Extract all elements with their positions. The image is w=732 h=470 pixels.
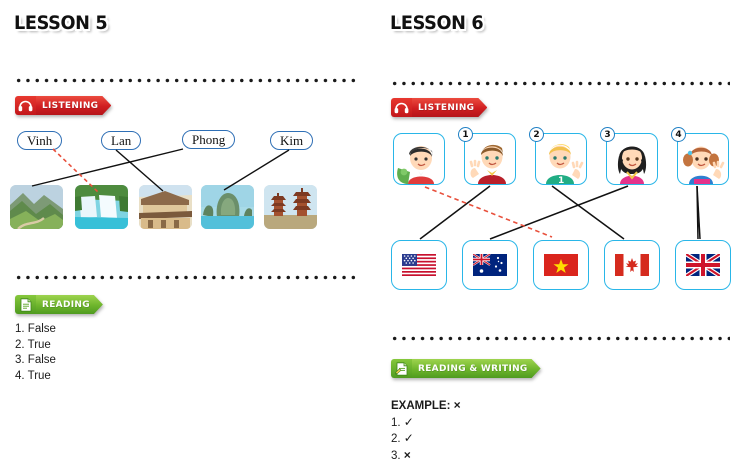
section-divider [14, 78, 359, 83]
answer-number: 3. [391, 450, 401, 462]
match-line-kid1-usa [420, 186, 490, 239]
pagoda-photo[interactable] [264, 185, 317, 229]
answer-row: 4. True [15, 369, 56, 385]
listening-banner-lesson6: LISTENING [391, 98, 487, 117]
lesson-5-column: LESSON 5 LISTENING Vinh Lan Phong Kim [0, 0, 366, 470]
document-pencil-icon [391, 359, 412, 378]
flag-australia[interactable] [462, 240, 518, 290]
reading-banner-label: READING [34, 295, 103, 314]
answer-number: 3. [15, 354, 25, 366]
answer-row: 2. True [15, 338, 56, 354]
headphones-icon [391, 98, 412, 117]
section-divider [390, 81, 730, 86]
answer-row: 3. False [15, 353, 56, 369]
kid-portrait [607, 134, 657, 184]
mountain-landscape-photo[interactable] [10, 185, 63, 229]
cross-mark-icon: × [454, 398, 461, 412]
name-pill-lan[interactable]: Lan [101, 131, 141, 150]
flag-image [676, 241, 730, 289]
kid-portrait [465, 134, 515, 184]
flag-image [463, 241, 517, 289]
waterfall-photo[interactable] [75, 185, 128, 229]
svg-text:1: 1 [558, 176, 564, 184]
flag-vietnam[interactable] [533, 240, 589, 290]
lesson-6-column: LESSON 6 LISTENING [380, 0, 732, 470]
card-number-badge: 1 [458, 127, 473, 142]
section-divider [390, 336, 730, 341]
listening-banner-lesson5: LISTENING [15, 96, 111, 115]
answer-number: 1. [15, 323, 25, 335]
answer-number: 4. [15, 370, 25, 382]
kid-2-boy-blond-green-shirt[interactable]: 1 2 [535, 133, 587, 185]
check-mark-icon: ✓ [404, 415, 414, 429]
flag-uk[interactable] [675, 240, 731, 290]
answer-value: False [28, 323, 56, 335]
kid-example-boy-black-hair[interactable] [393, 133, 445, 185]
flag-image [534, 241, 588, 289]
kid-1-boy-brown-hair-red-shirt[interactable]: 1 [464, 133, 516, 185]
section-divider [14, 275, 359, 280]
match-line-phong-mountain [32, 149, 183, 186]
card-number-badge: 4 [671, 127, 686, 142]
answer-number: 1. [391, 417, 401, 429]
flag-canada[interactable] [604, 240, 660, 290]
answer-row: 2. ✓ [391, 431, 461, 448]
flag-image [392, 241, 446, 289]
kid-4-girl-pigtails-blue-shirt[interactable]: 4 [677, 133, 729, 185]
answer-row: 1. False [15, 322, 56, 338]
kid-3-girl-black-hair-pink-top[interactable]: 3 [606, 133, 658, 185]
card-number-badge: 3 [600, 127, 615, 142]
ancient-town-photo[interactable] [139, 185, 192, 229]
reading-writing-banner: READING & WRITING [391, 359, 541, 378]
answer-number: EXAMPLE: [391, 400, 450, 412]
match-line-kid4-uk-b [697, 186, 700, 239]
match-line-kid2-canada [552, 186, 624, 239]
name-pill-kim[interactable]: Kim [270, 131, 313, 150]
match-line-kid3-australia [490, 186, 628, 239]
answer-number: 2. [15, 339, 25, 351]
match-line-kim-halongbay [224, 150, 289, 190]
reading-writing-answers-list: EXAMPLE: × 1. ✓ 2. ✓ 3. × [391, 398, 461, 464]
document-icon [15, 295, 36, 314]
name-pill-phong[interactable]: Phong [182, 130, 235, 149]
answer-value: True [28, 370, 51, 382]
worksheet-answer-key-page: LESSON 5 LISTENING Vinh Lan Phong Kim [0, 0, 732, 470]
flag-image [605, 241, 659, 289]
match-line-example-vietnam [425, 187, 552, 237]
reading-writing-banner-label: READING & WRITING [410, 359, 541, 378]
answer-row: 1. ✓ [391, 415, 461, 432]
answer-row: 3. × [391, 448, 461, 465]
lesson-5-title: LESSON 5 [14, 12, 107, 34]
answer-number: 2. [391, 433, 401, 445]
reading-banner-lesson5: READING [15, 295, 103, 314]
listening-banner-label: LISTENING [410, 98, 487, 117]
halong-bay-photo[interactable] [201, 185, 254, 229]
reading-answers-list: 1. False 2. True 3. False 4. True [15, 322, 56, 384]
headphones-icon [15, 96, 36, 115]
check-mark-icon: ✓ [404, 431, 414, 445]
lesson5-match-lines [0, 0, 366, 470]
cross-mark-icon: × [404, 448, 411, 462]
answer-value: False [28, 354, 56, 366]
flag-usa[interactable] [391, 240, 447, 290]
name-pill-vinh[interactable]: Vinh [17, 131, 62, 150]
listening-banner-label: LISTENING [34, 96, 111, 115]
kid-portrait: 1 [536, 134, 586, 184]
answer-value: True [28, 339, 51, 351]
lesson-6-title: LESSON 6 [390, 12, 483, 34]
kid-portrait [394, 134, 444, 184]
answer-row-example: EXAMPLE: × [391, 398, 461, 415]
card-number-badge: 2 [529, 127, 544, 142]
match-line-kid4-uk [697, 186, 698, 239]
kid-portrait [678, 134, 728, 184]
